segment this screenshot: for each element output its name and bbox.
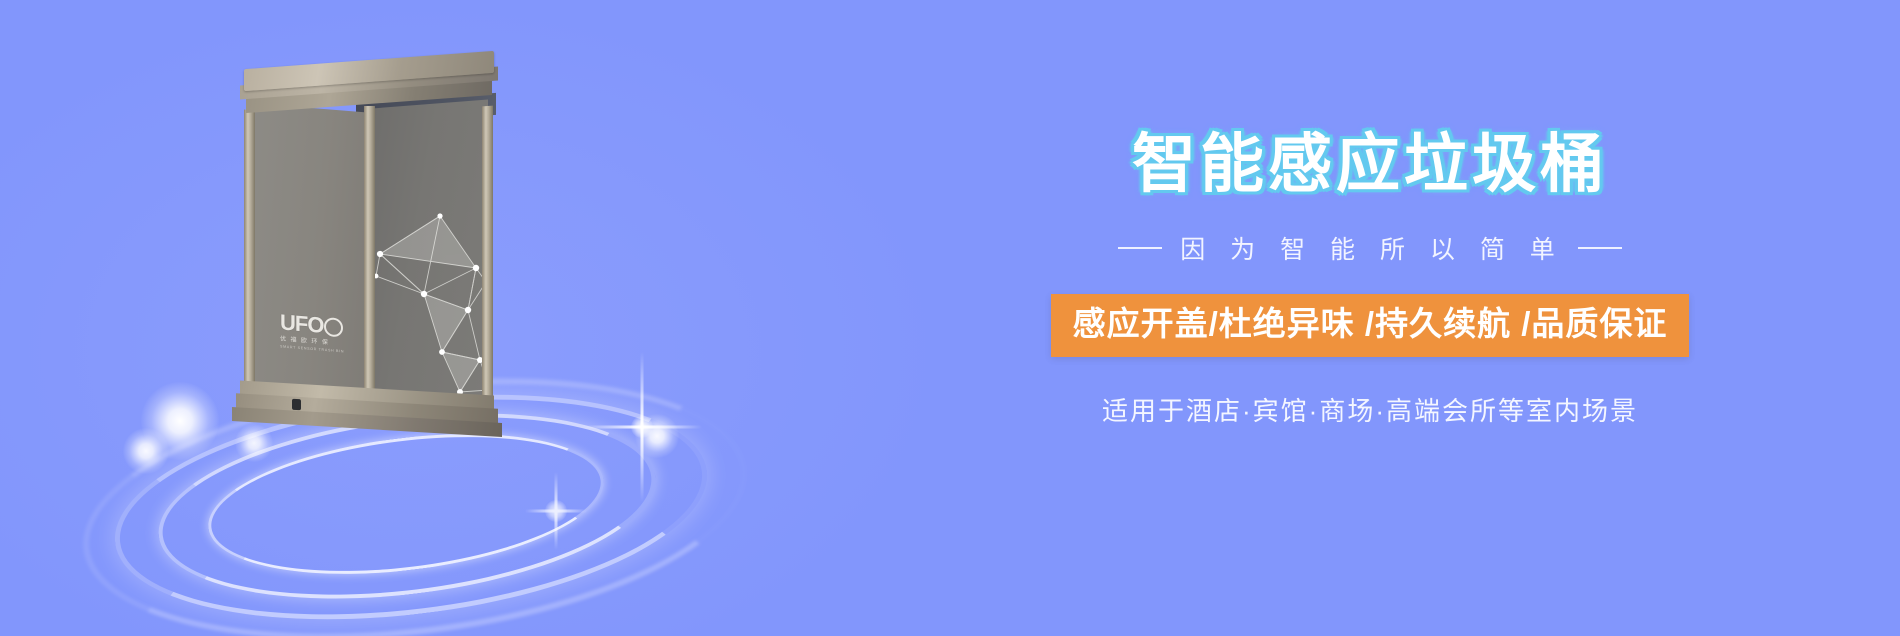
banner-subtitle: 因 为 智 能 所 以 简 单 [1118, 230, 1622, 266]
subtitle-dash-left [1118, 247, 1162, 249]
bin-logo-wordmark: UFO [280, 311, 344, 338]
bin-logo-ring-icon [324, 316, 343, 337]
polygon-network-svg [372, 202, 494, 402]
ripple-rings [95, 400, 735, 630]
product-stage: UFO 优 福 欧 环 保 SMART SENSOR TRASH BIN [0, 0, 830, 636]
product-banner: UFO 优 福 欧 环 保 SMART SENSOR TRASH BIN 智能感… [0, 0, 1900, 636]
trash-bin-illustration: UFO 优 福 欧 环 保 SMART SENSOR TRASH BIN [236, 52, 504, 424]
bin-face-left [250, 103, 372, 405]
subtitle-dash-right [1578, 247, 1622, 249]
banner-copy-block: 智能感应垃圾桶 因 为 智 能 所 以 简 单 感应开盖/杜绝异味 /持久续航 … [840, 0, 1900, 636]
use-case-line: 适用于酒店·宾馆·商场·高端会所等室内场景 [1102, 391, 1638, 428]
bin-edge-post-left [244, 110, 255, 403]
sparkle-star-large [582, 352, 702, 502]
bin-polygon-pattern [372, 202, 494, 402]
glow-blob-3 [235, 424, 273, 462]
sparkle-star-small [525, 472, 587, 550]
bin-edge-post-right [482, 106, 493, 399]
bin-brand-logo: UFO 优 福 欧 环 保 SMART SENSOR TRASH BIN [280, 311, 344, 354]
bin-sensor-port [292, 399, 301, 411]
feature-highlight-bar: 感应开盖/杜绝异味 /持久续航 /品质保证 [1051, 294, 1690, 357]
subtitle-text: 因 为 智 能 所 以 简 单 [1176, 230, 1564, 266]
banner-headline: 智能感应垃圾桶 [1132, 132, 1608, 196]
bin-edge-post-center [364, 106, 375, 404]
bin-logo-text: UFO [280, 311, 323, 336]
glow-blob-2 [123, 428, 169, 474]
